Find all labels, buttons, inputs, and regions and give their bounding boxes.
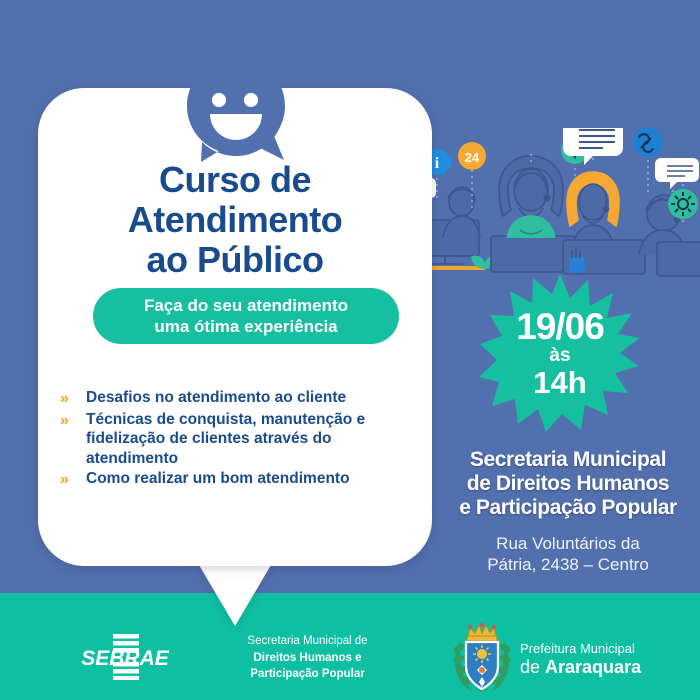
footer-prefeitura-line-1: Prefeitura Municipal <box>520 640 695 657</box>
footer-prefeitura: Prefeitura Municipal de Araraquara <box>520 640 695 678</box>
page-title: Curso de Atendimento ao Público <box>38 160 432 280</box>
footer-prefeitura-city: Araraquara <box>545 657 641 677</box>
address-line-2: Pátria, 2438 – Centro <box>440 554 696 575</box>
topics-list: » Desafios no atendimento ao cliente » T… <box>60 388 415 491</box>
double-chevron-icon: » <box>60 388 86 409</box>
sebrae-logo: SEBRAE <box>70 634 180 680</box>
tagline-pill: Faça do seu atendimento uma ótima experi… <box>93 288 399 344</box>
list-item: » Técnicas de conquista, manutenção e fi… <box>60 410 415 469</box>
organizer-line-1: Secretaria Municipal <box>440 448 696 472</box>
footer-prefeitura-prefix: de <box>520 657 545 677</box>
tagline-line-1: Faça do seu atendimento <box>144 295 348 316</box>
svg-text:i: i <box>435 155 440 172</box>
title-line-1: Curso de <box>38 160 432 200</box>
list-item-label: Desafios no atendimento ao cliente <box>86 388 415 408</box>
list-item: » Desafios no atendimento ao cliente <box>60 388 415 409</box>
date-starburst <box>480 272 640 434</box>
list-item-label: Como realizar um bom atendimento <box>86 469 415 489</box>
address-line-1: Rua Voluntários da <box>440 533 696 554</box>
araraquara-coat-of-arms <box>450 621 514 693</box>
poster-canvas: i 24 <box>0 0 700 700</box>
smiley-speech-bubble-icon <box>181 56 291 166</box>
call-center-illustration: i 24 <box>415 128 700 280</box>
tagline-line-2: uma ótima experiência <box>154 316 337 337</box>
title-line-2: Atendimento <box>38 200 432 240</box>
organizer-line-2: de Direitos Humanos <box>440 472 696 496</box>
footer-prefeitura-line-2: de Araraquara <box>520 657 695 678</box>
organizer-line-3: e Participação Popular <box>440 496 696 520</box>
double-chevron-icon: » <box>60 410 86 431</box>
sebrae-logo-text: SEBRAE <box>81 647 170 670</box>
footer-secretaria: Secretaria Municipal de Direitos Humanos… <box>225 633 390 683</box>
svg-text:24: 24 <box>465 150 480 165</box>
title-line-3: ao Público <box>38 240 432 280</box>
venue-address: Rua Voluntários da Pátria, 2438 – Centro <box>440 533 696 575</box>
list-item: » Como realizar um bom atendimento <box>60 469 415 490</box>
organizer-title: Secretaria Municipal de Direitos Humanos… <box>440 448 696 520</box>
list-item-label: Técnicas de conquista, manutenção e fide… <box>86 410 415 469</box>
double-chevron-icon: » <box>60 469 86 490</box>
footer-secretaria-line-1: Secretaria Municipal de <box>225 633 390 650</box>
footer-secretaria-line-2: Direitos Humanos e <box>225 650 390 667</box>
footer-secretaria-line-3: Participação Popular <box>225 666 390 683</box>
